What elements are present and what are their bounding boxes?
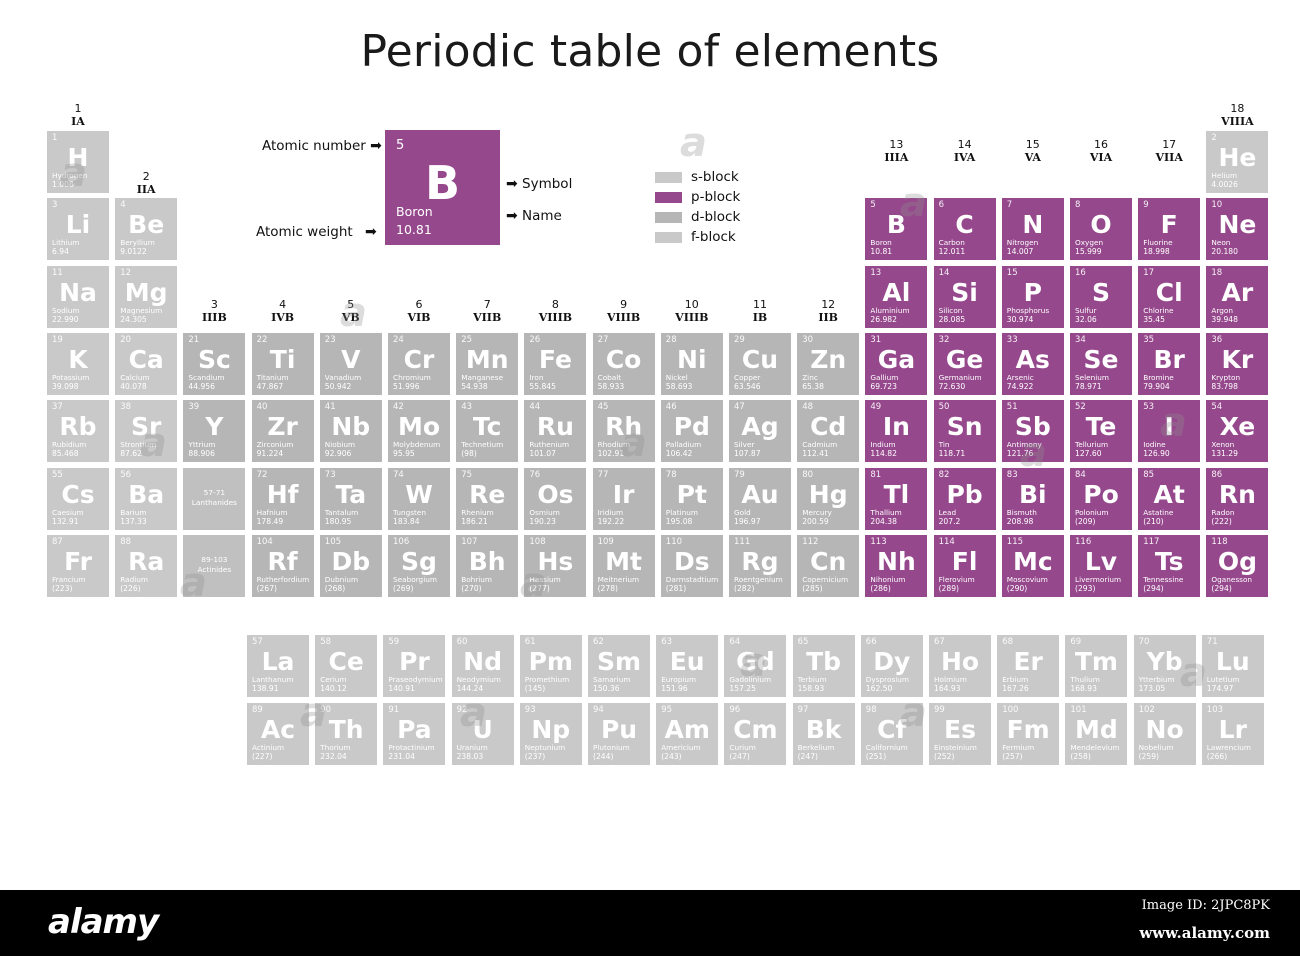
element-name: Krypton [1211, 374, 1266, 382]
periodic-table-canvas: Periodic table of elements Atomic number… [0, 0, 1300, 890]
element-name: Chromium [393, 374, 448, 382]
element-cell-pr[interactable]: 59PrPraseodymium140.91 [383, 635, 445, 697]
element-atomic-weight: 118.71 [939, 450, 994, 458]
element-atomic-weight: 4.0026 [1211, 181, 1266, 189]
element-cell-fe[interactable]: 26FeIron55.845 [524, 333, 586, 395]
element-atomic-number: 75 [461, 471, 472, 480]
element-atomic-weight: 10.81 [870, 248, 925, 256]
element-atomic-weight: 190.23 [529, 518, 584, 526]
element-atomic-number: 113 [870, 538, 886, 547]
element-cell-si[interactable]: 14SiSilicon28.085 [934, 266, 996, 328]
element-cell-re[interactable]: 75ReRhenium186.21 [456, 468, 518, 530]
element-atomic-weight: 69.723 [870, 383, 925, 391]
element-atomic-weight: (243) [661, 753, 716, 761]
element-cell-np[interactable]: 93NpNeptunium(237) [520, 703, 582, 765]
callout-atomic-number: Atomic number ➡ [262, 138, 382, 154]
element-cell-fr[interactable]: 87FrFrancium(223) [47, 535, 109, 597]
element-atomic-number: 104 [257, 538, 273, 547]
element-symbol: Cd [797, 413, 859, 440]
element-atomic-number: 19 [52, 336, 63, 345]
element-atomic-number: 90 [320, 706, 331, 715]
element-cell-zn[interactable]: 30ZnZinc65.38 [797, 333, 859, 395]
element-symbol: S [1070, 279, 1132, 306]
element-atomic-number: 118 [1211, 538, 1227, 547]
group-number: 5 [320, 298, 382, 311]
element-symbol: Lu [1202, 648, 1264, 675]
element-atomic-number: 53 [1143, 403, 1154, 412]
element-cell-sb[interactable]: 51SbAntimony121.76 [1002, 400, 1064, 462]
element-cell-mt[interactable]: 109MtMeitnerium(278) [593, 535, 655, 597]
element-cell-ca[interactable]: 20CaCalcium40.078 [115, 333, 177, 395]
element-atomic-number: 20 [120, 336, 131, 345]
element-name: Promethium [525, 676, 580, 684]
element-name: Curium [729, 744, 784, 752]
arrow-right-icon: ➡ [365, 224, 377, 240]
element-atomic-weight: 92.906 [325, 450, 380, 458]
element-cell-rn[interactable]: 86RnRadon(222) [1206, 468, 1268, 530]
element-cell-er[interactable]: 68ErErbium167.26 [997, 635, 1059, 697]
element-cell-br[interactable]: 35BrBromine79.904 [1138, 333, 1200, 395]
element-symbol: Th [315, 716, 377, 743]
element-atomic-number: 32 [939, 336, 950, 345]
element-atomic-weight: 162.50 [866, 685, 921, 693]
element-name: Seaborgium [393, 576, 448, 584]
element-cell-ta[interactable]: 73TaTantalum180.95 [320, 468, 382, 530]
element-cell-cl[interactable]: 17ClChlorine35.45 [1138, 266, 1200, 328]
element-cell-sc[interactable]: 21ScScandium44.956 [183, 333, 245, 395]
element-cell-po[interactable]: 84PoPolonium(209) [1070, 468, 1132, 530]
element-cell-cf[interactable]: 98CfCalifornium(251) [861, 703, 923, 765]
element-symbol: Y [183, 413, 245, 440]
element-cell-mo[interactable]: 42MoMolybdenum95.95 [388, 400, 450, 462]
element-cell-al[interactable]: 13AlAluminium26.982 [865, 266, 927, 328]
element-cell-ba[interactable]: 56BaBarium137.33 [115, 468, 177, 530]
element-atomic-weight: (281) [666, 585, 721, 593]
element-cell-rf[interactable]: 104RfRutherfordium(267) [252, 535, 314, 597]
element-name: Fermium [1002, 744, 1057, 752]
element-name: Argon [1211, 307, 1266, 315]
element-cell-mn[interactable]: 25MnManganese54.938 [456, 333, 518, 395]
element-name: Radon [1211, 509, 1266, 517]
element-atomic-number: 108 [529, 538, 545, 547]
element-cell-li[interactable]: 3LiLithium6.94 [47, 198, 109, 260]
element-cell-bk[interactable]: 97BkBerkelium(247) [793, 703, 855, 765]
element-cell-y[interactable]: 39YYttrium88.906 [183, 400, 245, 462]
element-symbol: Ts [1138, 548, 1200, 575]
element-symbol: F [1138, 211, 1200, 238]
element-symbol: Nb [320, 413, 382, 440]
element-cell-cd[interactable]: 48CdCadmium112.41 [797, 400, 859, 462]
element-cell-pa[interactable]: 91PaProtactinium231.04 [383, 703, 445, 765]
element-cell-bi[interactable]: 83BiBismuth208.98 [1002, 468, 1064, 530]
element-cell-au[interactable]: 79AuGold196.97 [729, 468, 791, 530]
legend-swatch-icon [655, 212, 682, 223]
element-name: Berkelium [798, 744, 853, 752]
element-atomic-weight: 126.90 [1143, 450, 1198, 458]
element-atomic-weight: 101.07 [529, 450, 584, 458]
element-name: Rhenium [461, 509, 516, 517]
element-cell-c[interactable]: 6CCarbon12.011 [934, 198, 996, 260]
element-symbol: Co [593, 346, 655, 373]
element-atomic-weight: (286) [870, 585, 925, 593]
element-cell-s[interactable]: 16SSulfur32.06 [1070, 266, 1132, 328]
element-atomic-number: 23 [325, 336, 336, 345]
element-name: Zinc [802, 374, 857, 382]
callout-symbol: ➡ Symbol [506, 176, 572, 192]
element-symbol: Bh [456, 548, 518, 575]
element-symbol: Mn [456, 346, 518, 373]
element-cell-pm[interactable]: 61PmPromethium(145) [520, 635, 582, 697]
group-roman: IA [47, 115, 109, 128]
element-symbol: Mc [1002, 548, 1064, 575]
group-number: 1 [47, 102, 109, 115]
element-cell-la[interactable]: 57LaLanthanum138.91 [247, 635, 309, 697]
element-cell-hf[interactable]: 72HfHafnium178.49 [252, 468, 314, 530]
element-cell-tl[interactable]: 81TlThallium204.38 [865, 468, 927, 530]
element-cell-p[interactable]: 15PPhosphorus30.974 [1002, 266, 1064, 328]
element-atomic-number: 116 [1075, 538, 1091, 547]
element-atomic-weight: (293) [1075, 585, 1130, 593]
element-cell-fm[interactable]: 100FmFermium(257) [997, 703, 1059, 765]
element-cell-pd[interactable]: 46PdPalladium106.42 [661, 400, 723, 462]
element-atomic-number: 92 [457, 706, 468, 715]
element-atomic-number: 111 [734, 538, 750, 547]
element-atomic-weight: 178.49 [257, 518, 312, 526]
element-cell-es[interactable]: 99EsEinsteinium(252) [929, 703, 991, 765]
element-cell-sn[interactable]: 50SnTin118.71 [934, 400, 996, 462]
element-atomic-number: 54 [1211, 403, 1222, 412]
element-cell-sr[interactable]: 38SrStrontium87.62 [115, 400, 177, 462]
element-cell-k[interactable]: 19KPotassium39.098 [47, 333, 109, 395]
element-atomic-weight: 35.45 [1143, 316, 1198, 324]
element-atomic-number: 27 [598, 336, 609, 345]
series-placeholder-actinides[interactable]: 89-103Actinides [183, 535, 245, 597]
element-cell-bh[interactable]: 107BhBohrium(270) [456, 535, 518, 597]
element-name: Mercury [802, 509, 857, 517]
element-cell-i[interactable]: 53IIodine126.90 [1138, 400, 1200, 462]
element-symbol: I [1138, 413, 1200, 440]
element-cell-og[interactable]: 118OgOganesson(294) [1206, 535, 1268, 597]
element-symbol: Dy [861, 648, 923, 675]
element-atomic-weight: 87.62 [120, 450, 175, 458]
callout-atomic-weight: Atomic weight ➡ [256, 224, 377, 240]
element-atomic-number: 2 [1211, 134, 1216, 143]
element-atomic-number: 25 [461, 336, 472, 345]
element-cell-h[interactable]: 1HHydrogen1.008 [47, 131, 109, 193]
element-atomic-number: 68 [1002, 638, 1013, 647]
element-cell-ni[interactable]: 28NiNickel58.693 [661, 333, 723, 395]
element-cell-pu[interactable]: 94PuPlutonium(244) [588, 703, 650, 765]
element-cell-w[interactable]: 74WTungsten183.84 [388, 468, 450, 530]
element-atomic-weight: 107.87 [734, 450, 789, 458]
element-cell-gd[interactable]: 64GdGadolinium157.25 [724, 635, 786, 697]
element-atomic-weight: 132.91 [52, 518, 107, 526]
element-atomic-weight: 14.007 [1007, 248, 1062, 256]
element-cell-nb[interactable]: 41NbNiobium92.906 [320, 400, 382, 462]
element-atomic-number: 40 [257, 403, 268, 412]
series-placeholder-lanthanides[interactable]: 57-71Lanthanides [183, 468, 245, 530]
element-cell-ir[interactable]: 77IrIridium192.22 [593, 468, 655, 530]
element-cell-md[interactable]: 101MdMendelevium(258) [1065, 703, 1127, 765]
element-name: Nobelium [1139, 744, 1194, 752]
element-atomic-weight: (98) [461, 450, 516, 458]
element-atomic-weight: 158.93 [798, 685, 853, 693]
element-atomic-number: 77 [598, 471, 609, 480]
element-cell-ac[interactable]: 89AcActinium(227) [247, 703, 309, 765]
element-symbol: Ti [252, 346, 314, 373]
element-atomic-weight: 9.0122 [120, 248, 175, 256]
element-symbol: Hs [524, 548, 586, 575]
element-cell-as[interactable]: 33AsArsenic74.922 [1002, 333, 1064, 395]
element-cell-tc[interactable]: 43TcTechnetium(98) [456, 400, 518, 462]
element-cell-kr[interactable]: 36KrKrypton83.798 [1206, 333, 1268, 395]
element-atomic-weight: 183.84 [393, 518, 448, 526]
element-cell-f[interactable]: 9FFluorine18.998 [1138, 198, 1200, 260]
element-cell-v[interactable]: 23VVanadium50.942 [320, 333, 382, 395]
element-atomic-weight: 50.942 [325, 383, 380, 391]
element-symbol: Ge [934, 346, 996, 373]
element-cell-nd[interactable]: 60NdNeodymium144.24 [452, 635, 514, 697]
element-cell-he[interactable]: 2HeHelium4.0026 [1206, 131, 1268, 193]
element-cell-tm[interactable]: 69TmThulium168.93 [1065, 635, 1127, 697]
element-atomic-number: 74 [393, 471, 404, 480]
element-cell-pt[interactable]: 78PtPlatinum195.08 [661, 468, 723, 530]
group-header-13: 13IIIA [865, 138, 927, 164]
element-symbol: Rh [593, 413, 655, 440]
element-symbol: Ra [115, 548, 177, 575]
element-cell-ge[interactable]: 32GeGermanium72.630 [934, 333, 996, 395]
legend-item-p-block: p-block [655, 187, 740, 207]
element-atomic-number: 66 [866, 638, 877, 647]
element-cell-xe[interactable]: 54XeXenon131.29 [1206, 400, 1268, 462]
element-atomic-number: 43 [461, 403, 472, 412]
element-symbol: H [47, 144, 109, 171]
arrow-right-icon: ➡ [506, 176, 518, 192]
element-cell-be[interactable]: 4BeBeryllium9.0122 [115, 198, 177, 260]
element-name: Dysprosium [866, 676, 921, 684]
element-cell-ga[interactable]: 31GaGallium69.723 [865, 333, 927, 395]
element-symbol: Ba [115, 481, 177, 508]
element-atomic-number: 28 [666, 336, 677, 345]
element-cell-yb[interactable]: 70YbYtterbium173.05 [1134, 635, 1196, 697]
group-number: 4 [252, 298, 314, 311]
element-atomic-weight: 54.938 [461, 383, 516, 391]
element-atomic-number: 47 [734, 403, 745, 412]
element-name: Europium [661, 676, 716, 684]
element-atomic-number: 12 [120, 269, 131, 278]
group-roman: IIIB [183, 311, 245, 324]
element-cell-os[interactable]: 76OsOsmium190.23 [524, 468, 586, 530]
element-cell-pb[interactable]: 82PbLead207.2 [934, 468, 996, 530]
element-cell-ra[interactable]: 88RaRadium(226) [115, 535, 177, 597]
element-atomic-number: 35 [1143, 336, 1154, 345]
element-atomic-weight: (252) [934, 753, 989, 761]
element-symbol: Be [115, 211, 177, 238]
element-cell-ts[interactable]: 117TsTennessine(294) [1138, 535, 1200, 597]
element-cell-ds[interactable]: 110DsDarmstadtium(281) [661, 535, 723, 597]
element-atomic-number: 6 [939, 201, 944, 210]
group-header-14: 14IVA [934, 138, 996, 164]
group-roman: VIB [388, 311, 450, 324]
element-atomic-weight: (257) [1002, 753, 1057, 761]
element-symbol: Re [456, 481, 518, 508]
element-symbol: In [865, 413, 927, 440]
element-atomic-weight: 157.25 [729, 685, 784, 693]
element-name: Darmstadtium [666, 576, 721, 584]
element-cell-ru[interactable]: 44RuRuthenium101.07 [524, 400, 586, 462]
element-atomic-weight: 63.546 [734, 383, 789, 391]
element-cell-cr[interactable]: 24CrChromium51.996 [388, 333, 450, 395]
element-cell-se[interactable]: 34SeSelenium78.971 [1070, 333, 1132, 395]
element-symbol: P [1002, 279, 1064, 306]
element-name: Zirconium [257, 441, 312, 449]
element-atomic-number: 29 [734, 336, 745, 345]
element-cell-th[interactable]: 90ThThorium232.04 [315, 703, 377, 765]
element-atomic-number: 9 [1143, 201, 1148, 210]
element-cell-b[interactable]: 5BBoron10.81 [865, 198, 927, 260]
legend-swatch-icon [655, 192, 682, 203]
element-symbol: Og [1206, 548, 1268, 575]
element-atomic-weight: 131.29 [1211, 450, 1266, 458]
element-cell-in[interactable]: 49InIndium114.82 [865, 400, 927, 462]
element-cell-no[interactable]: 102NoNobelium(259) [1134, 703, 1196, 765]
element-cell-cm[interactable]: 96CmCurium(247) [724, 703, 786, 765]
element-cell-eu[interactable]: 63EuEuropium151.96 [656, 635, 718, 697]
element-cell-u[interactable]: 92UUranium238.03 [452, 703, 514, 765]
element-cell-hg[interactable]: 80HgMercury200.59 [797, 468, 859, 530]
element-cell-lr[interactable]: 103LrLawrencium(266) [1202, 703, 1264, 765]
element-atomic-weight: (285) [802, 585, 857, 593]
group-roman: VIIIA [1206, 115, 1268, 128]
element-symbol: Es [929, 716, 991, 743]
element-cell-ho[interactable]: 67HoHolmium164.93 [929, 635, 991, 697]
element-name: Antimony [1007, 441, 1062, 449]
group-roman: VIIIB [524, 311, 586, 324]
element-name: Lead [939, 509, 994, 517]
element-atomic-number: 8 [1075, 201, 1080, 210]
element-symbol: Xe [1206, 413, 1268, 440]
element-cell-ar[interactable]: 18ArArgon39.948 [1206, 266, 1268, 328]
element-cell-cu[interactable]: 29CuCopper63.546 [729, 333, 791, 395]
group-roman: IIA [115, 183, 177, 196]
element-symbol: As [1002, 346, 1064, 373]
element-cell-n[interactable]: 7NNitrogen14.007 [1002, 198, 1064, 260]
element-symbol: Ga [865, 346, 927, 373]
element-cell-zr[interactable]: 40ZrZirconium91.224 [252, 400, 314, 462]
element-name: Oxygen [1075, 239, 1130, 247]
element-cell-am[interactable]: 95AmAmericium(243) [656, 703, 718, 765]
element-name: Niobium [325, 441, 380, 449]
element-atomic-weight: 121.76 [1007, 450, 1062, 458]
element-name: Thulium [1070, 676, 1125, 684]
element-cell-ce[interactable]: 58CeCerium140.12 [315, 635, 377, 697]
element-name: Hassium [529, 576, 584, 584]
group-number: 10 [661, 298, 723, 311]
element-name: Tellurium [1075, 441, 1130, 449]
element-cell-ti[interactable]: 22TiTitanium47.867 [252, 333, 314, 395]
element-name: Beryllium [120, 239, 175, 247]
element-symbol: Yb [1134, 648, 1196, 675]
element-atomic-weight: 106.42 [666, 450, 721, 458]
element-atomic-weight: (209) [1075, 518, 1130, 526]
element-cell-ag[interactable]: 47AgSilver107.87 [729, 400, 791, 462]
element-atomic-weight: (244) [593, 753, 648, 761]
element-cell-cn[interactable]: 112CnCopernicium(285) [797, 535, 859, 597]
element-cell-dy[interactable]: 66DyDysprosium162.50 [861, 635, 923, 697]
alamy-image-id: Image ID: 2JPC8PK [1142, 898, 1270, 913]
element-cell-sg[interactable]: 106SgSeaborgium(269) [388, 535, 450, 597]
group-header-16: 16VIA [1070, 138, 1132, 164]
group-number: 16 [1070, 138, 1132, 151]
element-name: Selenium [1075, 374, 1130, 382]
element-cell-lv[interactable]: 116LvLivermorium(293) [1070, 535, 1132, 597]
element-atomic-weight: 24.305 [120, 316, 175, 324]
group-header-6: 6VIB [388, 298, 450, 324]
element-cell-mg[interactable]: 12MgMagnesium24.305 [115, 266, 177, 328]
element-cell-tb[interactable]: 65TbTerbium158.93 [793, 635, 855, 697]
element-cell-cs[interactable]: 55CsCaesium132.91 [47, 468, 109, 530]
element-atomic-weight: 144.24 [457, 685, 512, 693]
element-cell-rb[interactable]: 37RbRubidium85.468 [47, 400, 109, 462]
element-cell-rg[interactable]: 111RgRoentgenium(282) [729, 535, 791, 597]
element-cell-ne[interactable]: 10NeNeon20.180 [1206, 198, 1268, 260]
element-atomic-weight: 174.97 [1207, 685, 1262, 693]
element-name: Nitrogen [1007, 239, 1062, 247]
element-symbol: Cn [797, 548, 859, 575]
group-number: 3 [183, 298, 245, 311]
element-name: Plutonium [593, 744, 648, 752]
element-name: Tin [939, 441, 994, 449]
element-atomic-number: 45 [598, 403, 609, 412]
element-symbol: Br [1138, 346, 1200, 373]
element-cell-sm[interactable]: 62SmSamarium150.36 [588, 635, 650, 697]
element-symbol: Zn [797, 346, 859, 373]
element-cell-hs[interactable]: 108HsHassium(277) [524, 535, 586, 597]
element-atomic-weight: 22.990 [52, 316, 107, 324]
element-atomic-number: 69 [1070, 638, 1081, 647]
element-atomic-weight: 207.2 [939, 518, 994, 526]
element-cell-co[interactable]: 27CoCobalt58.933 [593, 333, 655, 395]
element-symbol: Mg [115, 279, 177, 306]
element-atomic-number: 50 [939, 403, 950, 412]
element-atomic-weight: 150.36 [593, 685, 648, 693]
element-name: Vanadium [325, 374, 380, 382]
element-name: Tantalum [325, 509, 380, 517]
element-cell-lu[interactable]: 71LuLutetium174.97 [1202, 635, 1264, 697]
alamy-url[interactable]: www.alamy.com [1139, 924, 1270, 942]
element-name: Sodium [52, 307, 107, 315]
element-name: Yttrium [188, 441, 243, 449]
element-name: Lithium [52, 239, 107, 247]
element-name: Germanium [939, 374, 994, 382]
element-cell-mc[interactable]: 115McMoscovium(290) [1002, 535, 1064, 597]
element-atomic-number: 97 [798, 706, 809, 715]
group-number: 7 [456, 298, 518, 311]
element-name: Nickel [666, 374, 721, 382]
element-cell-te[interactable]: 52TeTellurium127.60 [1070, 400, 1132, 462]
element-cell-na[interactable]: 11NaSodium22.990 [47, 266, 109, 328]
element-cell-nh[interactable]: 113NhNihonium(286) [865, 535, 927, 597]
element-symbol: Ce [315, 648, 377, 675]
element-name: Osmium [529, 509, 584, 517]
element-cell-at[interactable]: 85AtAstatine(210) [1138, 468, 1200, 530]
element-symbol: Rf [252, 548, 314, 575]
element-cell-fl[interactable]: 114FlFlerovium(289) [934, 535, 996, 597]
element-cell-o[interactable]: 8OOxygen15.999 [1070, 198, 1132, 260]
element-cell-db[interactable]: 105DbDubnium(268) [320, 535, 382, 597]
element-name: Ytterbium [1139, 676, 1194, 684]
element-cell-rh[interactable]: 45RhRhodium102.91 [593, 400, 655, 462]
